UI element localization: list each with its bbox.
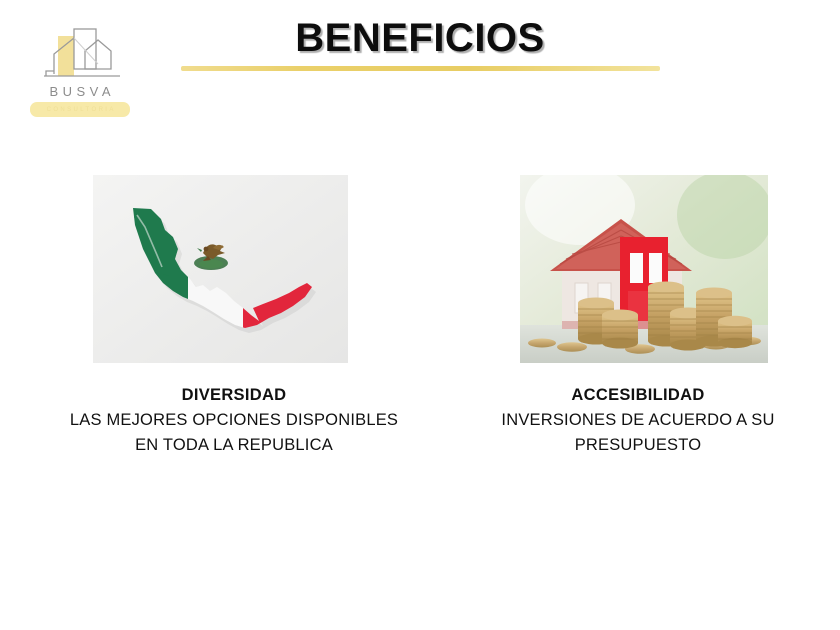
slide-canvas: BUSVA CONSULTORIA BENEFICIOS [0,0,840,630]
building-outline-icon [40,26,124,84]
benefit-caption: DIVERSIDAD LAS MEJORES OPCIONES DISPONIB… [14,383,454,459]
logo-tagline: CONSULTORIA [44,107,116,113]
page-title: BENEFICIOS [180,16,660,61]
benefit-title: ACCESIBILIDAD [450,383,826,408]
benefit-caption: ACCESIBILIDAD INVERSIONES DE ACUERDO A S… [450,383,826,459]
title-underline-rule [181,66,660,71]
benefit-card-diversidad: DIVERSIDAD LAS MEJORES OPCIONES DISPONIB… [14,175,454,459]
logo-tagline-band: CONSULTORIA [30,102,130,117]
benefit-description-line-2: PRESUPUESTO [450,433,826,459]
benefit-card-accesibilidad: ACCESIBILIDAD INVERSIONES DE ACUERDO A S… [450,175,826,459]
mexico-map-flag-image [93,175,348,363]
logo-wordmark: BUSVA [26,84,134,99]
busva-logo: BUSVA CONSULTORIA [26,26,134,126]
house-with-coin-stacks-image [520,175,768,363]
benefit-description-line-2: EN TODA LA REPUBLICA [14,433,454,459]
benefit-description-line-1: LAS MEJORES OPCIONES DISPONIBLES [14,408,454,434]
benefit-description-line-1: INVERSIONES DE ACUERDO A SU [450,408,826,434]
benefit-title: DIVERSIDAD [14,383,454,408]
